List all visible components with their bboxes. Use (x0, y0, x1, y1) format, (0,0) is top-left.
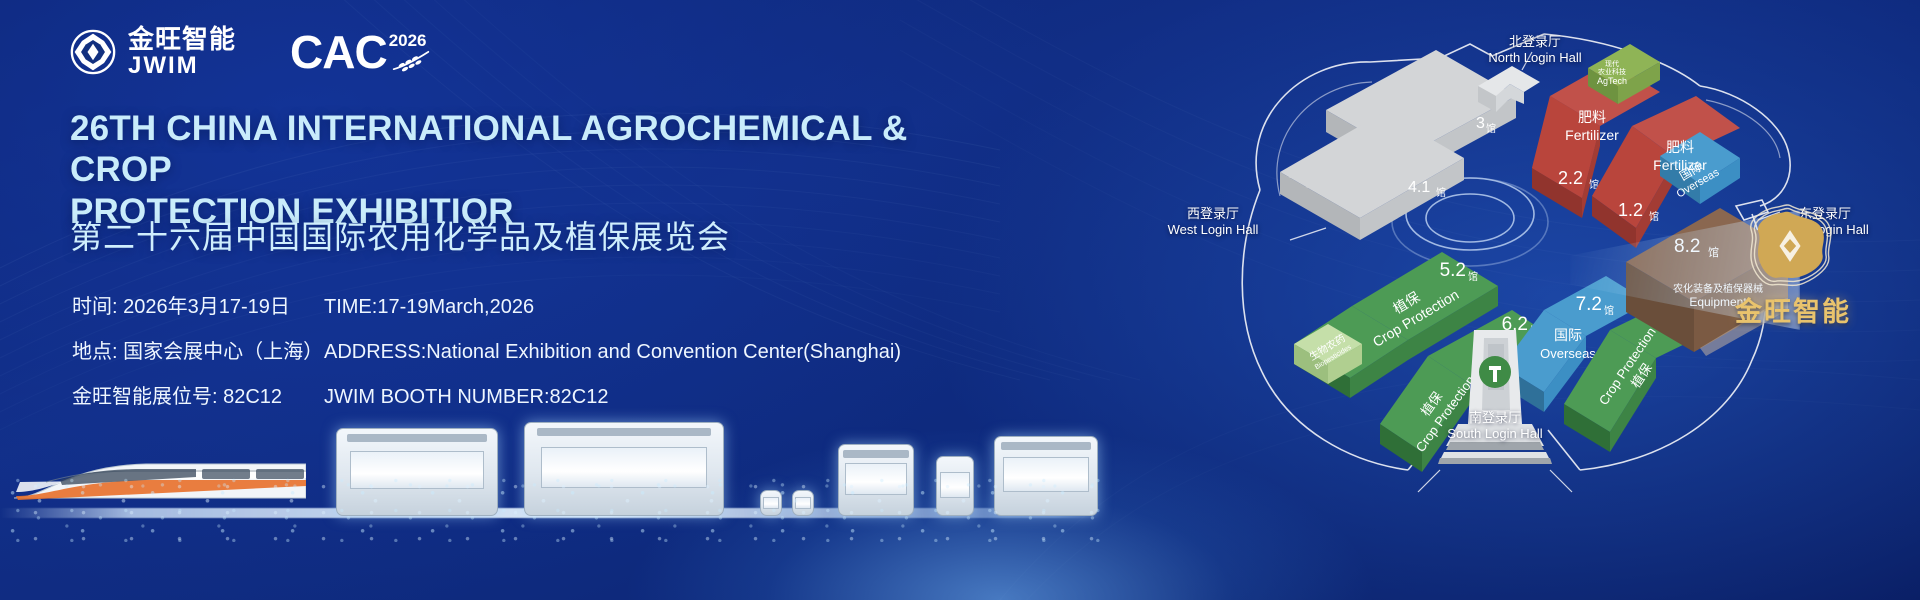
hall-2-2-en: Fertilizer (1565, 127, 1619, 143)
event-info-block: 时间: 2026年3月17-19日 TIME:17-19March,2026 地… (72, 290, 901, 425)
cac-logo-word: CAC (290, 29, 387, 75)
jwim-logo-en: JWIM (128, 54, 236, 78)
machine-cap (843, 450, 908, 458)
hall-code-1-2: 1.2 (1618, 200, 1643, 220)
title-english-line1: 26TH CHINA INTERNATIONAL AGROCHEMICAL & … (70, 108, 970, 191)
svg-text:馆: 馆 (1708, 245, 1719, 259)
info-row-time: 时间: 2026年3月17-19日 TIME:17-19March,2026 (72, 290, 901, 319)
info-address-en: ADDRESS:National Exhibition and Conventi… (324, 341, 901, 364)
machine-cap (537, 428, 711, 436)
hall-code-7-2: 7.2 (1576, 294, 1602, 315)
zone-agtech-en: AgTech (1597, 76, 1627, 86)
cac-logo-year: 2026 (389, 31, 427, 51)
info-row-address: 地点: 国家会展中心（上海） ADDRESS:National Exhibiti… (72, 335, 901, 364)
info-booth-en: JWIM BOOTH NUMBER:82C12 (324, 386, 608, 409)
machine-unit-1 (336, 428, 498, 516)
hall-code-2-2: 2.2 (1558, 168, 1583, 188)
svg-text:馆: 馆 (1486, 122, 1496, 135)
venue-hall-map: 3 馆 4.1 馆 (1140, 0, 1920, 600)
hall-code-8-2: 8.2 (1674, 236, 1700, 257)
hall-code-4-1: 4.1 (1408, 179, 1430, 196)
machine-unit-6 (936, 456, 974, 516)
hall-7-2-en: Overseas (1540, 346, 1596, 361)
info-time-cn: 时间: 2026年3月17-19日 (72, 290, 324, 319)
jwim-logo-cn: 金旺智能 (128, 26, 236, 52)
jwim-logo[interactable]: 金旺智能 JWIM (70, 26, 236, 78)
machine-unit-7 (994, 436, 1098, 516)
info-address-cn: 地点: 国家会展中心（上海） (72, 335, 324, 364)
machine-cap (1001, 442, 1091, 450)
high-speed-train-graphic (6, 452, 306, 508)
zone-agtech-cn-2: 农业科技 (1598, 67, 1626, 76)
jwim-gold-badge[interactable] (1746, 202, 1834, 290)
hall-code-3: 3 (1476, 115, 1485, 132)
banner-root: 金旺智能 JWIM CAC 2026 (0, 0, 1920, 600)
wheat-icon (391, 49, 431, 77)
hall-1-2-cn: 肥料 (1666, 140, 1694, 156)
machine-unit-2 (524, 422, 724, 516)
svg-text:馆: 馆 (1468, 270, 1478, 283)
cac-logo[interactable]: CAC 2026 (290, 29, 427, 75)
machinery-showcase (0, 432, 1130, 542)
hall-code-5-2: 5.2 (1440, 260, 1466, 281)
jwim-diamond-icon (70, 29, 116, 75)
svg-text:馆: 馆 (1436, 186, 1446, 199)
info-time-en: TIME:17-19March,2026 (324, 296, 534, 319)
title-chinese: 第二十六届中国国际农用化学品及植保展览会 (70, 212, 730, 258)
machine-unit-3 (760, 490, 782, 516)
machine-unit-4 (792, 490, 814, 516)
machine-cap (347, 434, 488, 442)
machine-unit-5 (838, 444, 914, 516)
logo-row: 金旺智能 JWIM CAC 2026 (70, 26, 427, 78)
hall-7-2-cn: 国际 (1554, 328, 1582, 344)
svg-text:馆: 馆 (1649, 210, 1659, 223)
zone-agtech-cn-1: 现代 (1605, 59, 1619, 68)
info-booth-cn: 金旺智能展位号: 82C12 (72, 380, 324, 409)
jwim-badge-word: 金旺智能 (1703, 290, 1883, 329)
svg-text:馆: 馆 (1604, 304, 1614, 317)
hall-2-2-cn: 肥料 (1578, 110, 1606, 126)
info-row-booth: 金旺智能展位号: 82C12 JWIM BOOTH NUMBER:82C12 (72, 380, 901, 409)
